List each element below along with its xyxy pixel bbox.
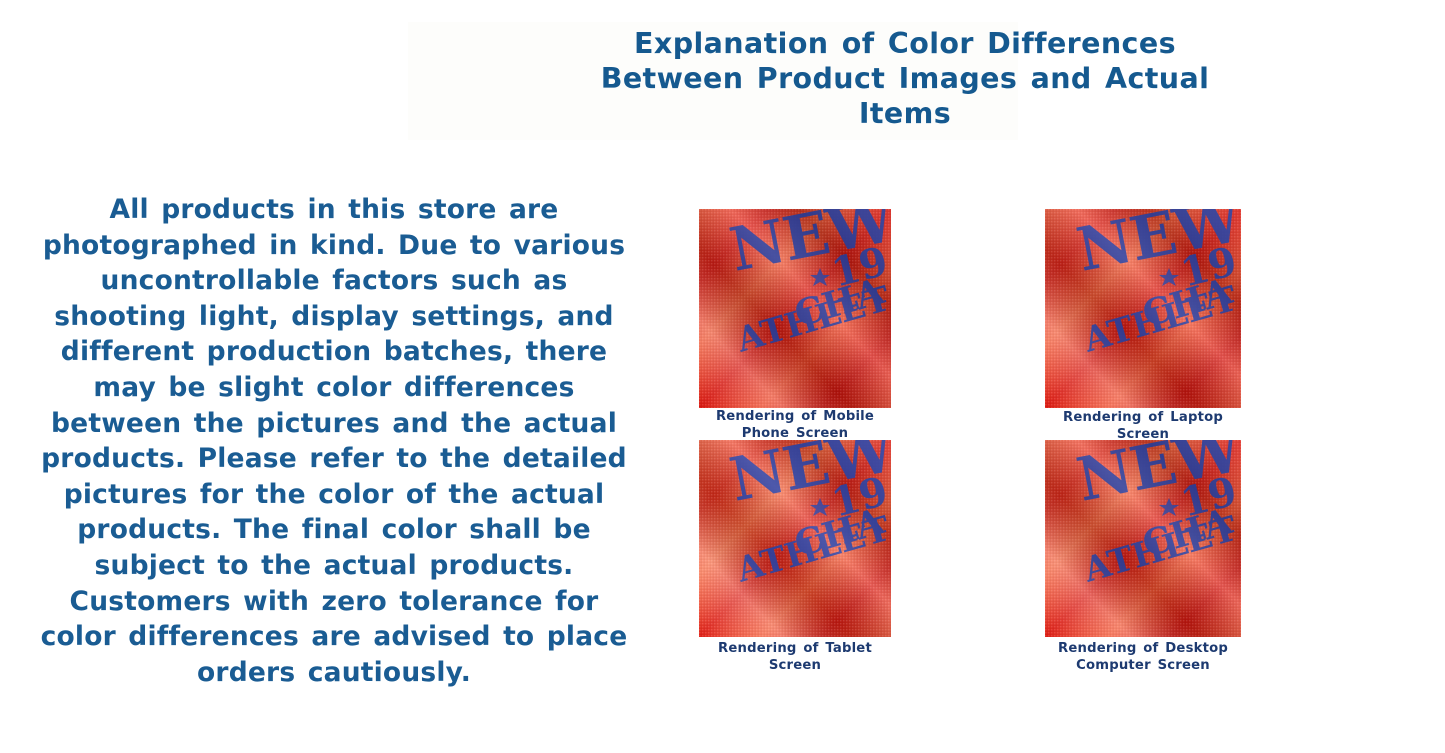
product-image-mobile: NEW 19 CHA ATHLET [699, 209, 891, 408]
product-image-desktop: NEW 19 CHA ATHLET [1045, 440, 1241, 637]
disclaimer-paragraph: All products in this store are photograp… [22, 192, 646, 690]
infographic-page: Explanation of Color Differences Between… [0, 0, 1445, 753]
caption-desktop: Rendering of Desktop Computer Screen [1008, 641, 1278, 674]
fabric-swatch-mobile: NEW 19 CHA ATHLET [699, 209, 891, 408]
caption-laptop: Rendering of Laptop Screen [1008, 410, 1278, 443]
jersey-print-mobile: NEW 19 CHA ATHLET [699, 209, 891, 408]
fabric-swatch-laptop: NEW 19 CHA ATHLET [1045, 209, 1241, 408]
fabric-swatch-desktop: NEW 19 CHA ATHLET [1045, 440, 1241, 637]
caption-tablet: Rendering of Tablet Screen [660, 641, 930, 674]
page-title: Explanation of Color Differences Between… [505, 26, 1305, 131]
product-image-tablet: NEW 19 CHA ATHLET [699, 440, 891, 637]
jersey-print-tablet: NEW 19 CHA ATHLET [699, 440, 891, 637]
jersey-print-laptop: NEW 19 CHA ATHLET [1045, 209, 1241, 408]
product-image-laptop: NEW 19 CHA ATHLET [1045, 209, 1241, 408]
caption-mobile: Rendering of Mobile Phone Screen [660, 409, 930, 442]
jersey-print-desktop: NEW 19 CHA ATHLET [1045, 440, 1241, 637]
fabric-swatch-tablet: NEW 19 CHA ATHLET [699, 440, 891, 637]
